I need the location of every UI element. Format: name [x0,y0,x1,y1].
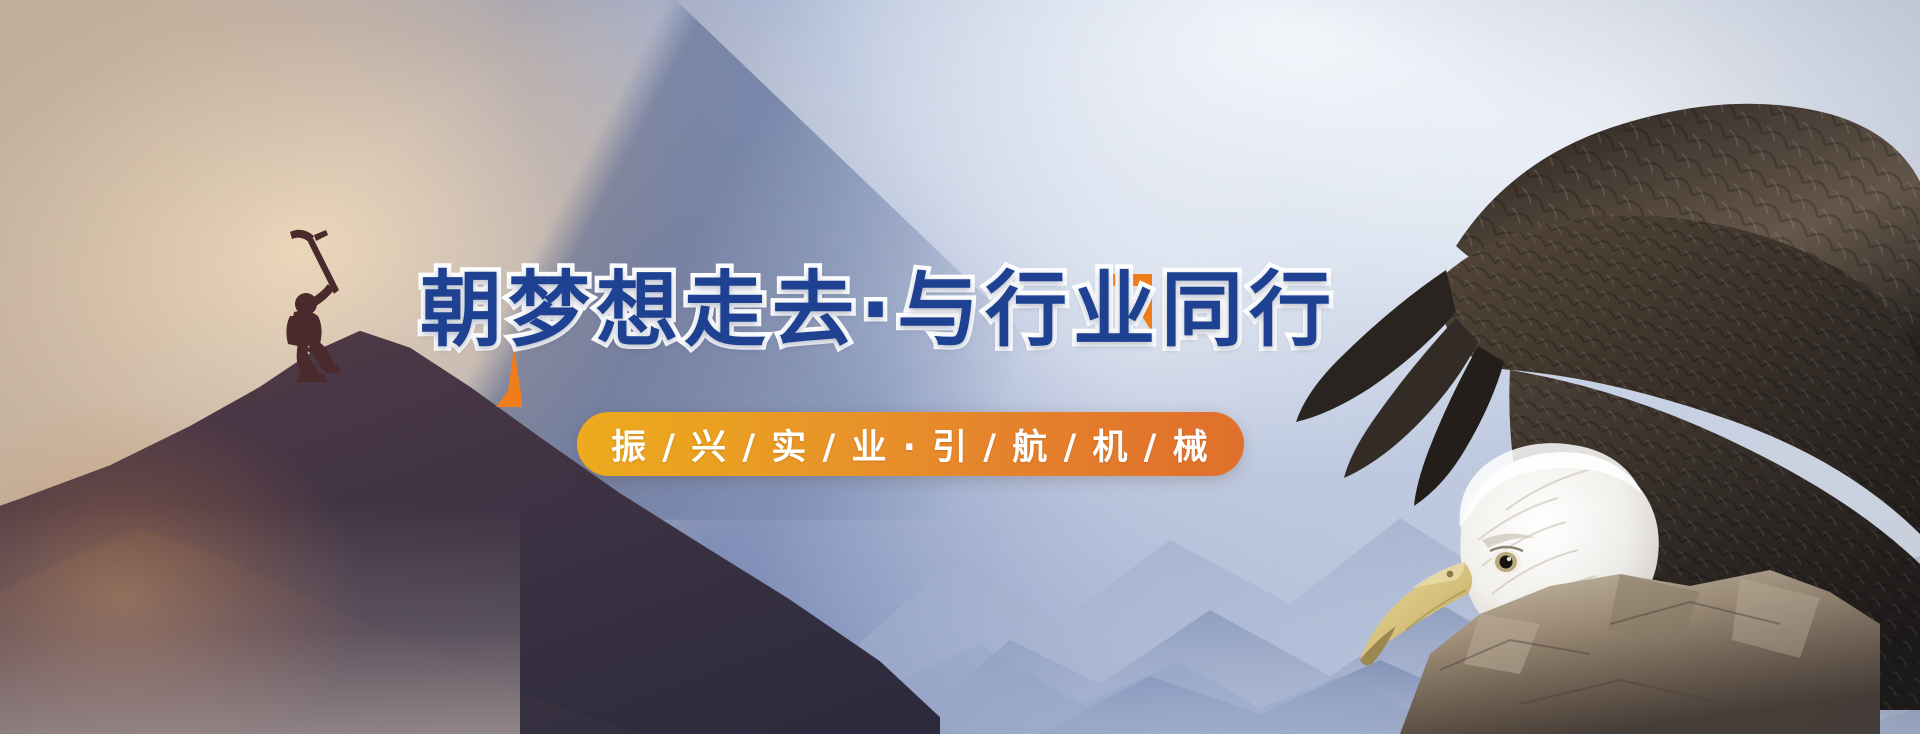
subtitle-pill-text: 振 / 兴 / 实 / 业 · 引 / 航 / 机 / 械 [611,419,1210,470]
subtitle-pill: 振 / 兴 / 实 / 业 · 引 / 航 / 机 / 械 [577,412,1244,476]
climber-silhouette [246,216,376,416]
banner-headline: 朝梦想走去·与行业同行 [420,243,1337,362]
hero-banner: 朝梦想走去·与行业同行 振 / 兴 / 实 / 业 · 引 / 航 / 机 / … [0,0,1920,734]
rock-perch [1360,474,1880,734]
banner-text-block: 朝梦想走去·与行业同行 振 / 兴 / 实 / 业 · 引 / 航 / 机 / … [400,215,1200,485]
left-mountain-mist [0,504,520,734]
